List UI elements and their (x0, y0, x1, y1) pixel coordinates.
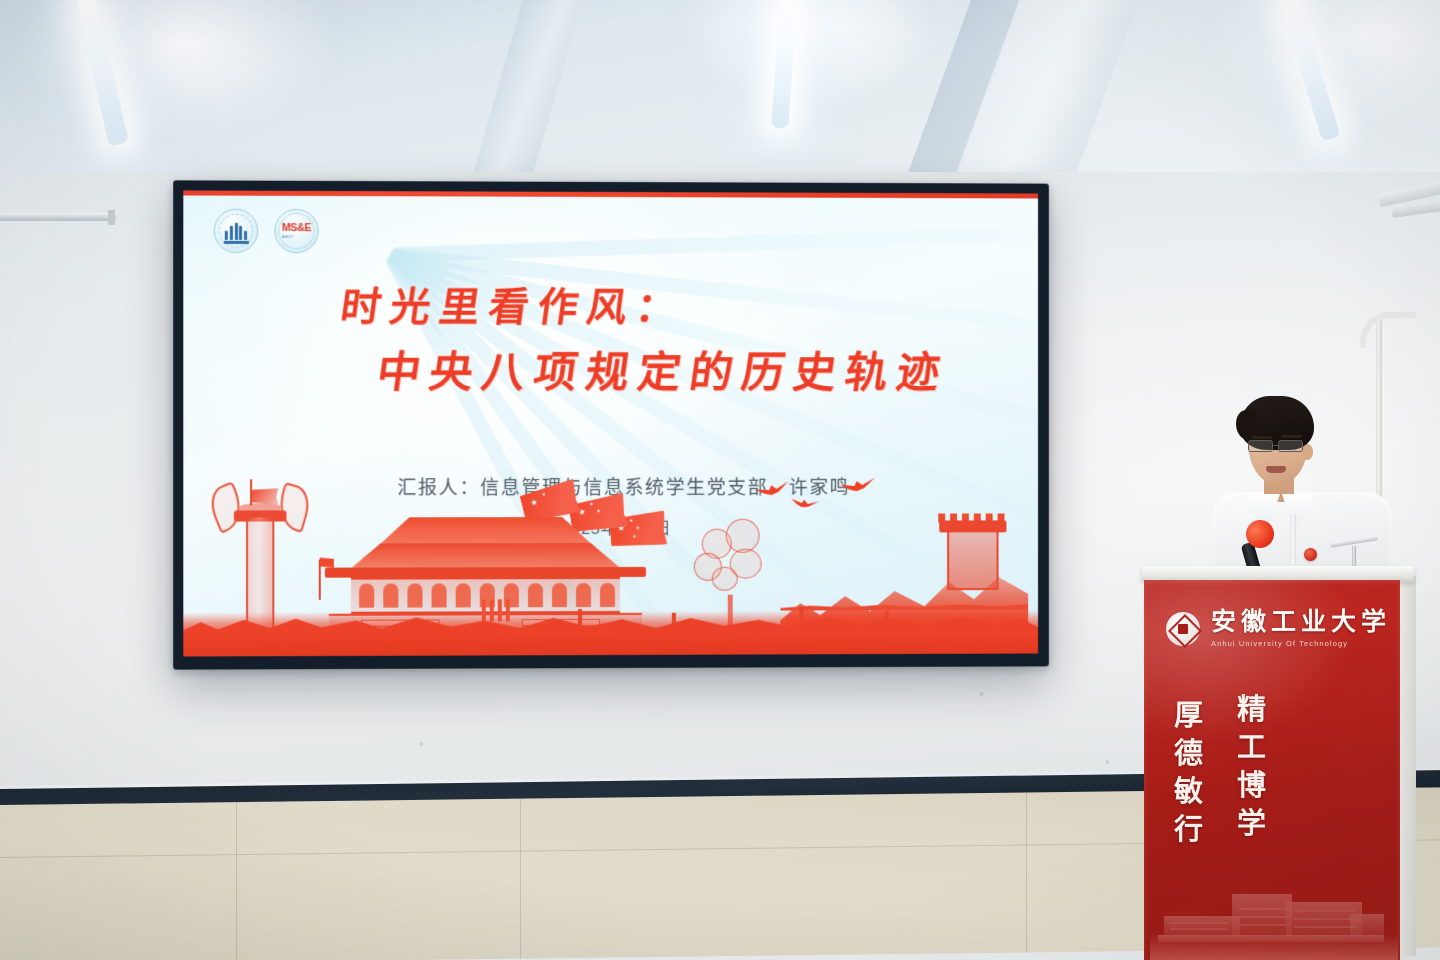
podium-branding: 安徽工业大学 Anhui University Of Technology (1166, 610, 1391, 648)
floor-seam (1026, 792, 1027, 952)
crowd-banner-pole (578, 609, 582, 627)
light-glow-left (20, 0, 340, 140)
motto-char: 工 (1237, 734, 1266, 763)
wall-mark (980, 692, 983, 696)
podium-base-glow (1150, 934, 1398, 960)
eyeglasses-icon (1246, 440, 1312, 452)
crowd-banner-pole (885, 611, 889, 626)
podium-front-panel: 安徽工业大学 Anhui University Of Technology 精 … (1144, 580, 1400, 960)
mse-logo-label: MS&E (282, 223, 311, 234)
presentation-display[interactable]: MS&E AHUT 时光里看作风： 中央八项规定的历史轨迹 汇报人：信息管理与信… (173, 180, 1049, 669)
national-flag-icon (320, 558, 334, 568)
mse-department-logo-icon: MS&E AHUT (274, 209, 318, 253)
university-seal-logo-icon (214, 209, 259, 253)
university-building-glyph (225, 222, 247, 240)
slide-title-line-1: 时光里看作风： (185, 287, 1038, 329)
fluorescent-tube-center-icon (771, 0, 798, 128)
motto-char: 精 (1237, 696, 1266, 725)
fluorescent-tube-left-icon (75, 0, 129, 146)
speaker-eyebrow-left (1252, 436, 1272, 439)
wall-rail (0, 213, 116, 221)
lectern-podium: 安徽工业大学 Anhui University Of Technology 精 … (1144, 566, 1412, 960)
ceiling (0, 0, 1440, 175)
display-bezel-inner: MS&E AHUT 时光里看作风： 中央八项规定的历史轨迹 汇报人：信息管理与信… (183, 190, 1038, 656)
slide-logo-row: MS&E AHUT (214, 209, 319, 254)
crowd-banner-pole (672, 613, 676, 627)
motto-char: 行 (1174, 816, 1203, 845)
slide-illustration (183, 415, 1038, 657)
speaker-eyebrow-right (1282, 435, 1302, 438)
slide-title: 时光里看作风： 中央八项规定的历史轨迹 (183, 287, 1038, 395)
wall-mark (420, 742, 423, 746)
motto-char: 敏 (1174, 778, 1203, 807)
floor-seam (520, 799, 521, 959)
podium-motto-column-left: 厚 德 敏 行 (1174, 702, 1203, 845)
wall-mark (1106, 760, 1109, 764)
speaker-mouth (1266, 466, 1286, 473)
motto-char: 厚 (1174, 702, 1203, 731)
crowd-silhouette (183, 610, 1038, 657)
ceiling-beam-left (471, 0, 588, 180)
presentation-slide[interactable]: MS&E AHUT 时光里看作风： 中央八项规定的历史轨迹 汇报人：信息管理与信… (183, 190, 1038, 656)
fluorescent-tube-right-icon (1278, 0, 1340, 142)
light-glow-center (680, 0, 940, 110)
ahut-seal-icon (1166, 612, 1200, 646)
mse-logo-sublabel: AHUT (282, 235, 311, 239)
motto-char: 德 (1174, 740, 1203, 769)
motto-char: 博 (1237, 772, 1266, 801)
podium-motto: 精 工 博 学 厚 德 敏 行 (1174, 702, 1270, 845)
podium-university-name-en: Anhui University Of Technology (1211, 639, 1391, 648)
party-emblem-pin-icon (1304, 548, 1317, 561)
motto-char: 学 (1237, 810, 1266, 839)
wall-rail-end-cap (108, 210, 115, 225)
floor-seam (236, 802, 237, 960)
crowd-banner-pole (799, 606, 803, 626)
lecture-room: MS&E AHUT 时光里看作风： 中央八项规定的历史轨迹 汇报人：信息管理与信… (0, 0, 1440, 960)
slide-title-line-2: 中央八项规定的历史轨迹 (183, 352, 1036, 396)
podium-university-name-cn: 安徽工业大学 (1211, 610, 1391, 636)
podium-motto-column-right: 精 工 博 学 (1237, 696, 1266, 839)
